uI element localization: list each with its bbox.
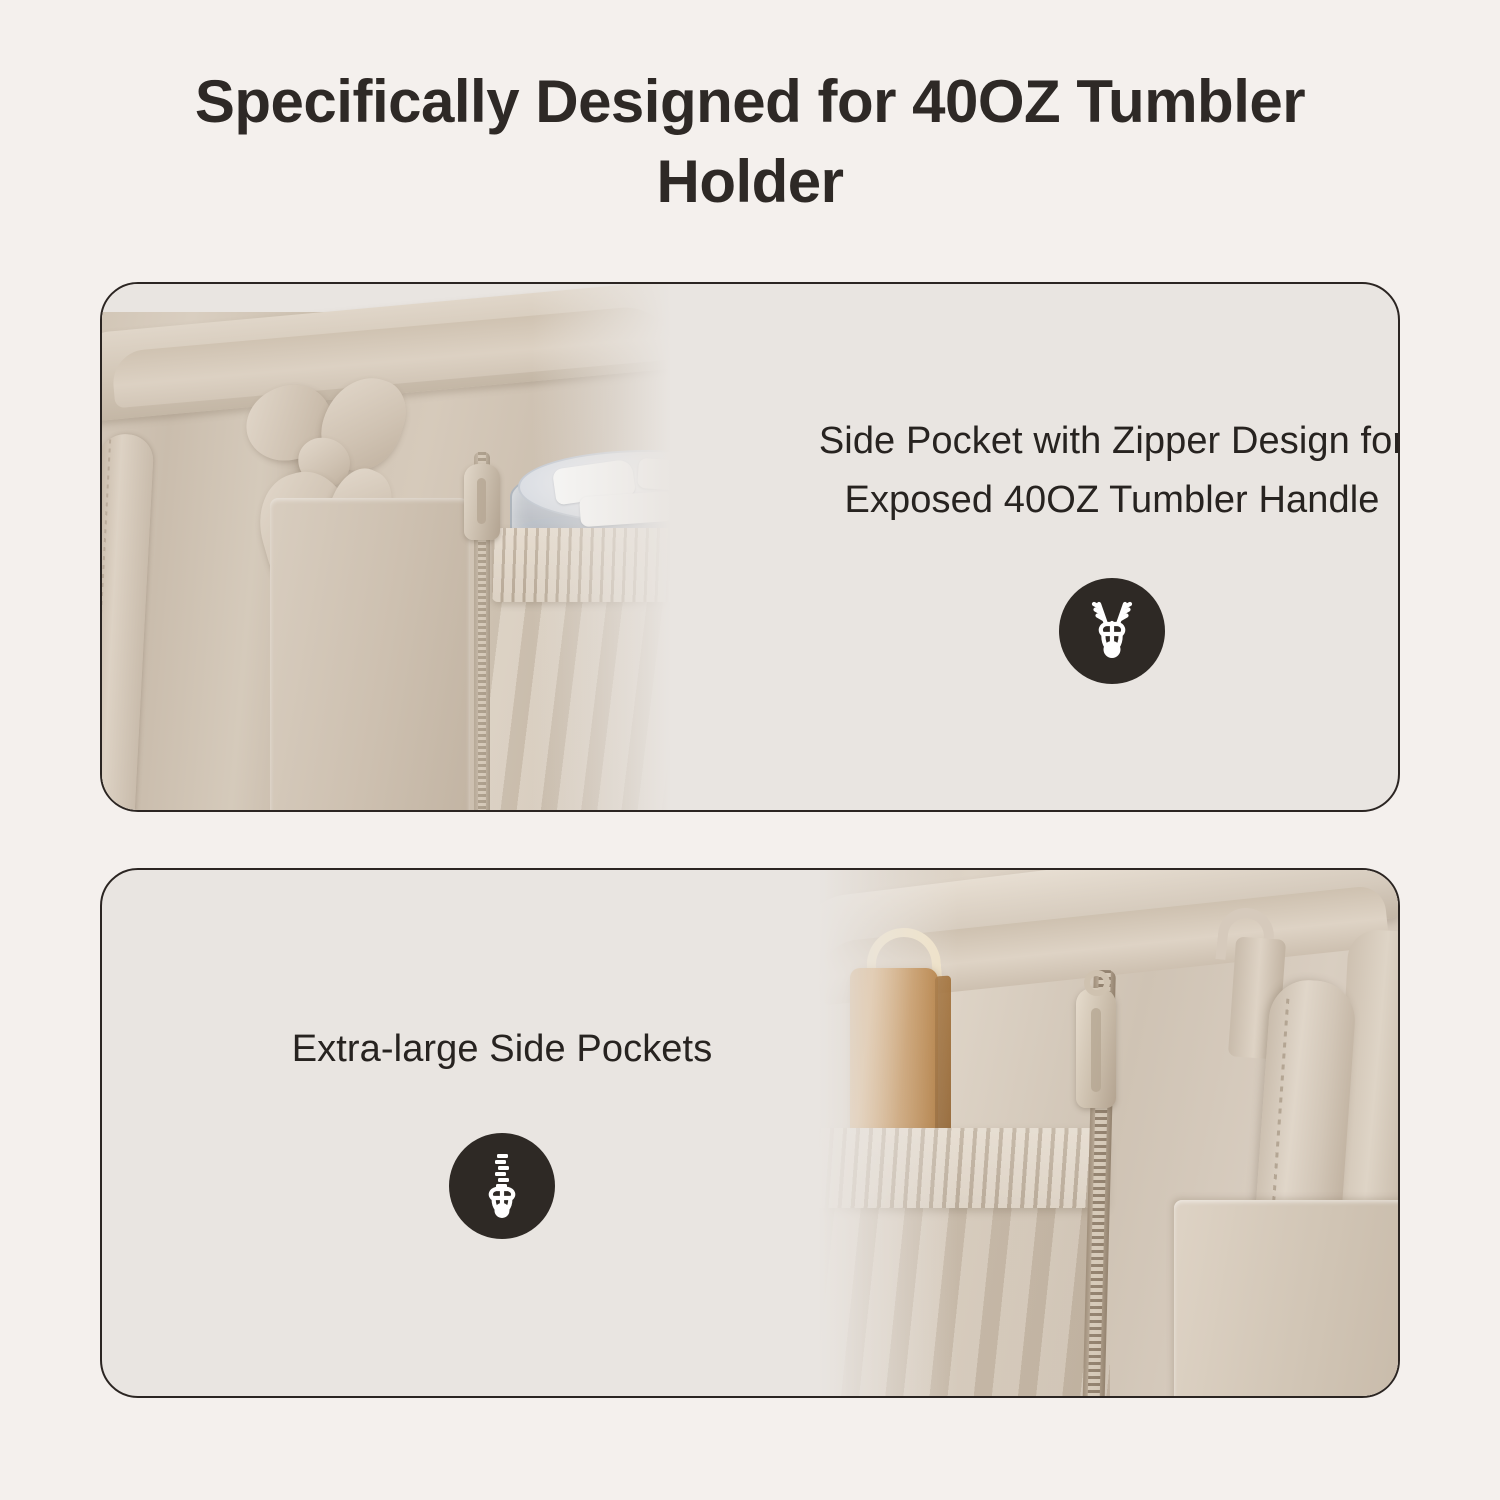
feature-text-block-1: Side Pocket with Zipper Design for Expos… — [742, 412, 1400, 684]
zipper-closed-icon — [465, 1149, 539, 1223]
bag-front-pocket — [270, 498, 470, 810]
zipper-teeth — [495, 1154, 509, 1188]
zipper-closed-icon-badge — [449, 1133, 555, 1239]
elastic-gather-band — [492, 528, 702, 602]
elastic-side-pocket-body — [788, 1192, 1110, 1396]
feature-text-block-2: Extra-large Side Pockets — [222, 1020, 782, 1239]
wooden-umbrella-handle — [850, 968, 938, 1150]
bag-flat-exterior-pocket — [1174, 1200, 1398, 1396]
feature-card-side-pocket-zipper: Side Pocket with Zipper Design for Expos… — [100, 282, 1400, 812]
elastic-gather-band — [788, 1128, 1108, 1208]
zipper-open-icon — [1075, 594, 1149, 668]
zipper-open-icon-badge — [1059, 578, 1165, 684]
product-photo-extra-large-side-pockets — [788, 870, 1398, 1396]
main-zipper-slider — [1076, 988, 1116, 1108]
page-title: Specifically Designed for 40OZ Tumbler H… — [150, 62, 1350, 223]
feature-caption-2: Extra-large Side Pockets — [222, 1020, 782, 1079]
zipper-pull-ring — [1084, 970, 1110, 996]
feature-icon-wrap-1 — [742, 530, 1400, 684]
feature-icon-wrap-2 — [222, 1079, 782, 1239]
zipper-pull-tab — [1104, 641, 1121, 658]
main-zipper-slider — [464, 464, 500, 540]
feature-caption-1: Side Pocket with Zipper Design for Expos… — [742, 412, 1400, 530]
zipper-pull-tab — [495, 1203, 510, 1218]
product-feature-infographic: Specifically Designed for 40OZ Tumbler H… — [0, 0, 1500, 1500]
product-photo-side-pocket-zipper — [102, 284, 702, 810]
elastic-side-pocket-body — [488, 584, 702, 810]
feature-card-extra-large-side-pockets: Extra-large Side Pockets — [100, 868, 1400, 1398]
